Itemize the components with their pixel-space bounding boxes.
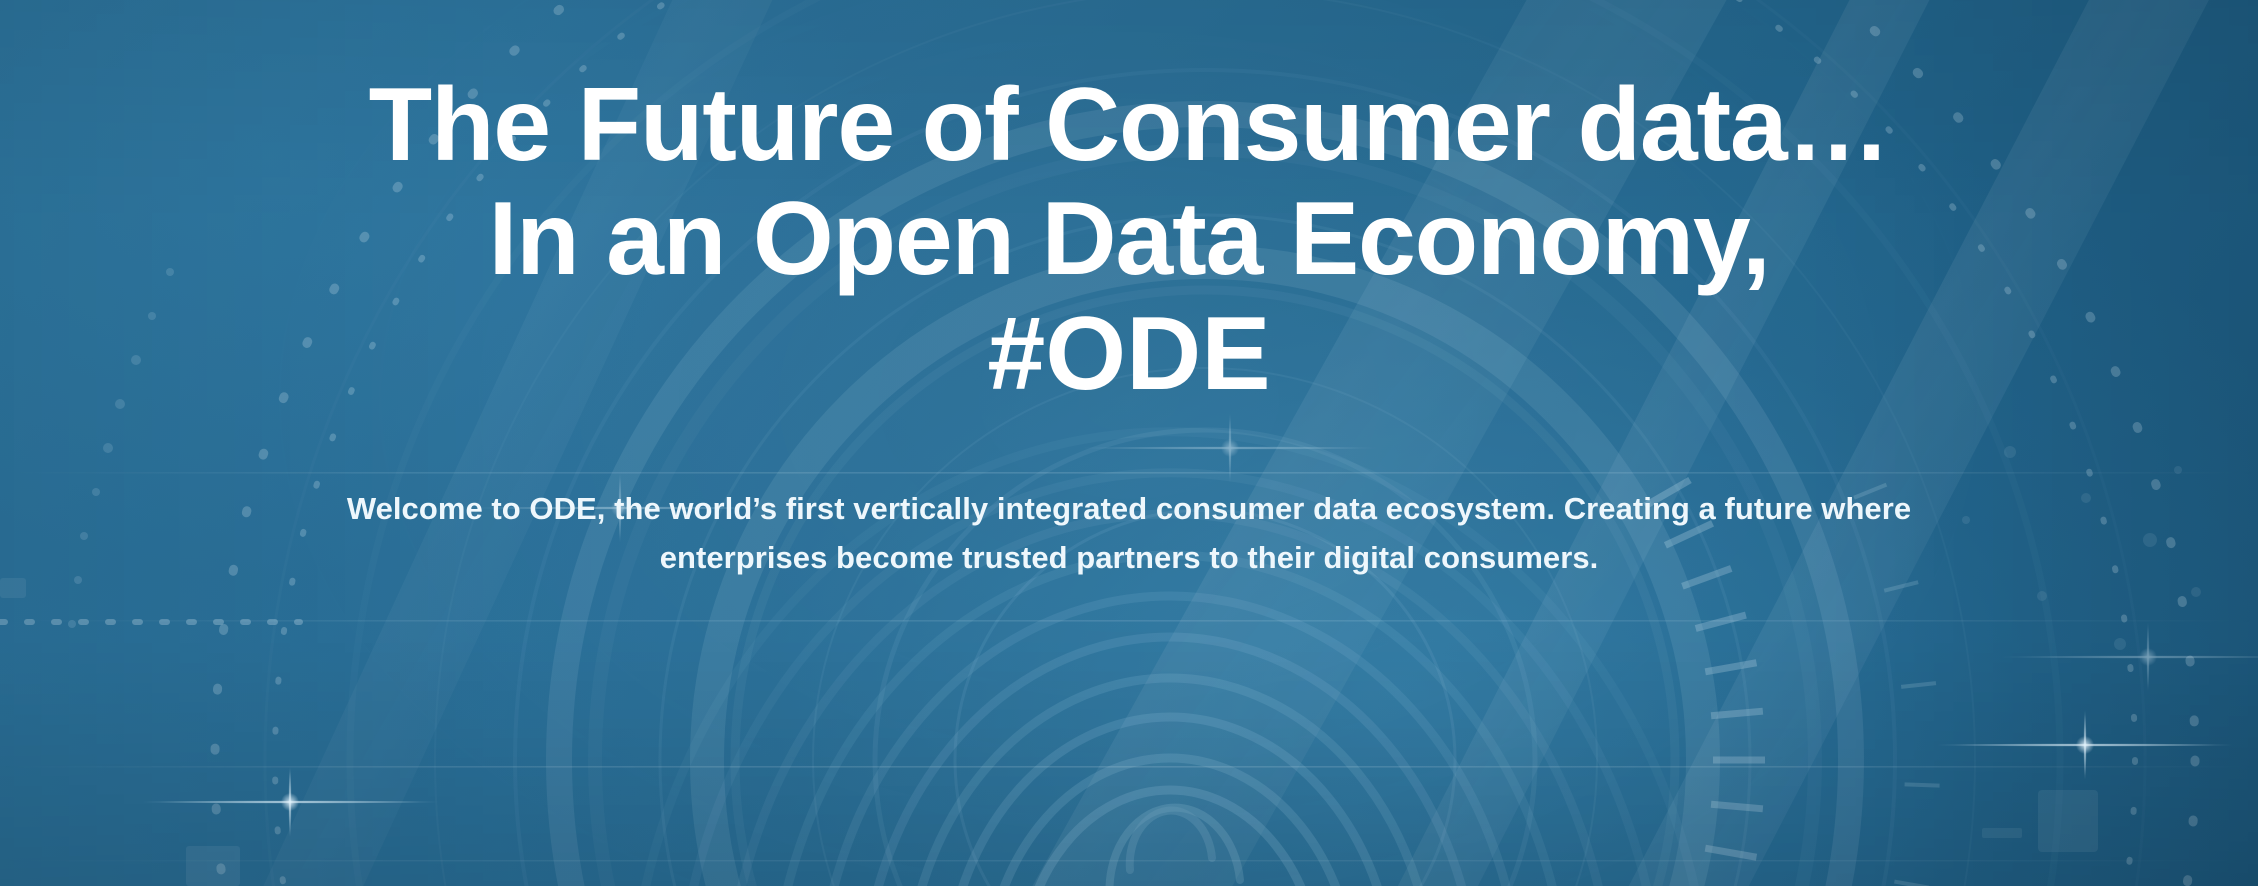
hero-headline: The Future of Consumer data… In an Open … xyxy=(45,68,2213,411)
hero-subcopy: Welcome to ODE, the world’s first vertic… xyxy=(279,485,1979,582)
hero-subcopy-line-1: Welcome to ODE, the world’s first vertic… xyxy=(347,491,1555,526)
hero-headline-line-3: #ODE xyxy=(45,297,2213,411)
hero-headline-line-2: In an Open Data Economy, xyxy=(45,182,2213,296)
hero-subcopy-line-3: consumers. xyxy=(1424,540,1599,575)
hero-content: The Future of Consumer data… In an Open … xyxy=(0,0,2258,886)
hero-banner: The Future of Consumer data… In an Open … xyxy=(0,0,2258,886)
hero-headline-line-1: The Future of Consumer data… xyxy=(45,68,2213,182)
